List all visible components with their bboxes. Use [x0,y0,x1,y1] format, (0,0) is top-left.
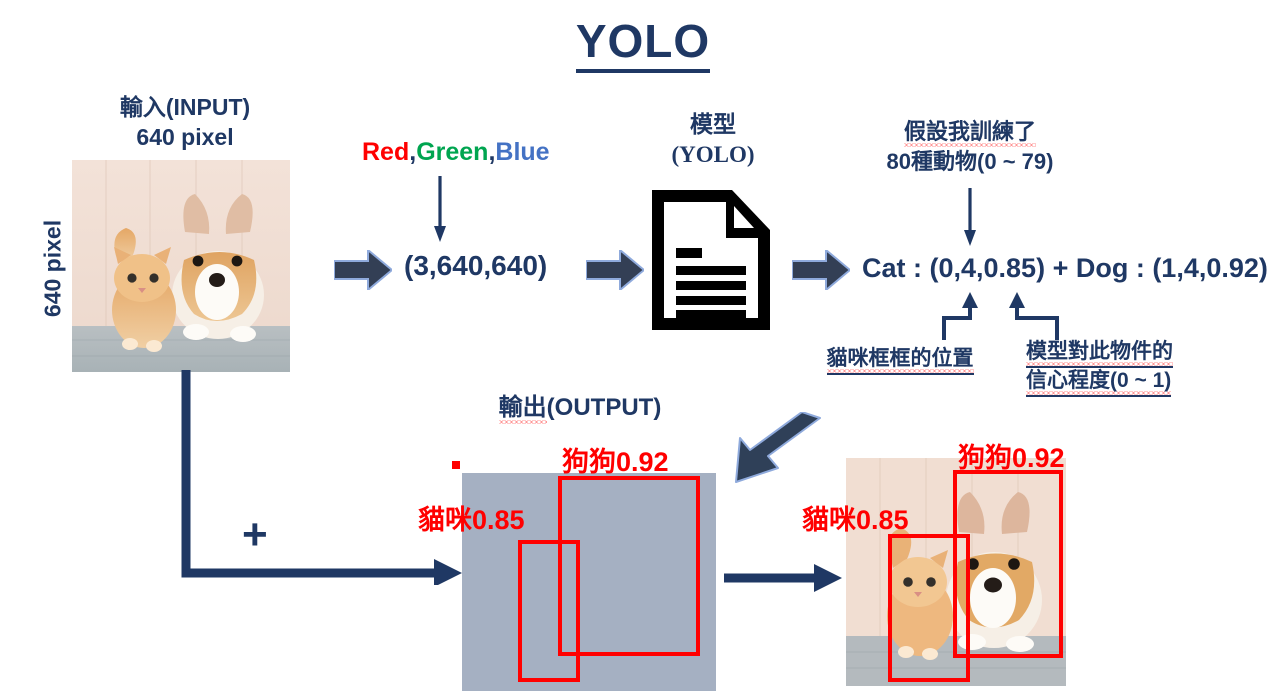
document-icon [648,186,774,339]
output-caption-en: (OUTPUT) [547,394,662,421]
input-photo [72,160,290,372]
input-caption: 輸入(INPUT) 640 pixel [70,92,300,153]
input-photo-image [72,160,290,372]
page-title-text: YOLO [576,15,710,73]
connector-input-to-output [178,370,468,590]
callout-cat-box-position: 貓咪框框的位置 [795,345,1005,372]
prediction-result: Cat : (0,4,0.85) + Dog : (1,4,0.92) [862,253,1268,284]
callout-confidence-line2: 信心程度(0 ~ 1) [1026,367,1276,396]
input-caption-line1: 輸入(INPUT) [70,92,300,122]
callout-arrow-position [940,292,990,347]
model-caption-line2: (YOLO) [648,140,778,170]
channel-blue-label: Blue [495,138,549,166]
model-caption-line1: 模型 [648,110,778,140]
tensor-shape-label: (3,640,640) [404,250,547,282]
arrow-assumption-down [962,188,978,251]
output-dog-label: 狗狗0.92 [562,440,669,479]
output-caption: 輸出(OUTPUT) [470,387,690,422]
arrow-output-to-final [724,560,844,601]
input-height-label: 640 pixel [40,194,67,344]
training-assumption: 假設我訓練了 80種動物(0 ~ 79) [845,117,1095,177]
input-caption-line2: 640 pixel [70,122,300,152]
callout-confidence-line1-text: 模型對此物件的 [1026,340,1173,368]
callout-cat-box-position-text: 貓咪框框的位置 [827,347,974,375]
assumption-line2: 80種動物(0 ~ 79) [845,147,1095,177]
arrow-channels-to-model [586,250,644,290]
assumption-line1-text: 假設我訓練了 [904,119,1036,147]
output-caption-cn: 輸出 [499,394,547,424]
final-dog-label: 狗狗0.92 [958,436,1065,475]
final-cat-label: 貓咪0.85 [802,498,909,537]
channel-red-label: Red [362,138,409,166]
model-caption: 模型 (YOLO) [648,110,778,170]
arrow-model-to-result [792,250,850,290]
rgb-channels-label: Red,Green,Blue [362,138,550,167]
callout-confidence-line2-text: 信心程度(0 ~ 1) [1026,369,1171,397]
arrow-result-to-output [716,412,836,503]
callout-confidence: 模型對此物件的 信心程度(0 ~ 1) [1026,338,1276,395]
channel-green-label: Green [416,138,488,166]
output-cat-label: 貓咪0.85 [418,498,525,537]
callout-confidence-line1: 模型對此物件的 [1026,338,1276,367]
output-cat-bbox [518,540,580,682]
assumption-line1: 假設我訓練了 [845,117,1095,147]
arrow-input-to-channels [334,250,392,290]
arrow-channels-down [432,176,448,247]
final-cat-bbox [888,534,970,682]
plus-symbol: + [242,513,268,557]
page-title: YOLO [0,14,1286,68]
